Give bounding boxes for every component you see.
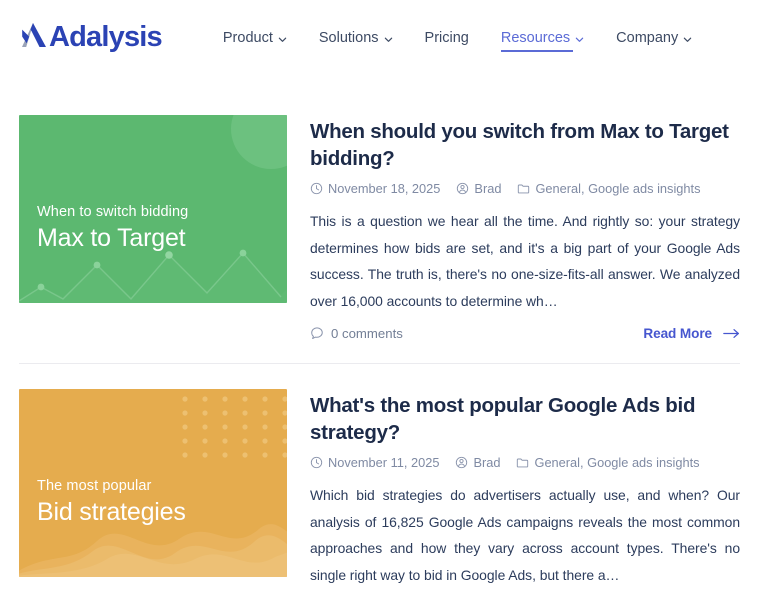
chevron-down-icon [575, 32, 584, 41]
nav-item-label: Company [616, 30, 678, 46]
thumbnail-caption: The most popular Bid strategies [37, 478, 186, 527]
post-categories-text[interactable]: General, Google ads insights [534, 455, 699, 470]
post-author: Brad [455, 455, 500, 470]
main-navigation: Product Solutions Pricing Resources Comp… [207, 24, 708, 52]
read-more-label: Read More [643, 326, 712, 341]
nav-item-label: Solutions [319, 30, 379, 46]
nav-item-label: Pricing [425, 30, 469, 46]
nav-item-resources[interactable]: Resources [485, 24, 600, 52]
chevron-down-icon [278, 32, 287, 41]
blog-post-list: When to switch bidding Max to Target Whe… [0, 75, 768, 595]
post-date: November 11, 2025 [310, 455, 439, 470]
post-author: Brad [456, 181, 501, 196]
thumbnail-caption: When to switch bidding Max to Target [37, 204, 188, 253]
blog-post-item: The most popular Bid strategies What's t… [19, 364, 740, 595]
thumbnail-headline: Bid strategies [37, 498, 186, 527]
thumbnail-kicker: When to switch bidding [37, 204, 188, 221]
post-thumbnail-image[interactable]: The most popular Bid strategies [19, 389, 287, 577]
post-title-link[interactable]: When should you switch from Max to Targe… [310, 118, 740, 172]
chevron-down-icon [384, 32, 393, 41]
nav-item-label: Resources [501, 30, 570, 46]
post-title-link[interactable]: What's the most popular Google Ads bid s… [310, 392, 740, 446]
post-meta: November 11, 2025 Brad General, Google a… [310, 455, 740, 470]
post-categories: General, Google ads insights [517, 181, 700, 196]
post-author-name[interactable]: Brad [473, 455, 500, 470]
chevron-down-icon [683, 32, 692, 41]
folder-icon [516, 456, 529, 469]
post-excerpt: Which bid strategies do advertisers actu… [310, 482, 740, 589]
nav-item-solutions[interactable]: Solutions [303, 24, 409, 52]
post-categories-text[interactable]: General, Google ads insights [535, 181, 700, 196]
post-thumbnail-image[interactable]: When to switch bidding Max to Target [19, 115, 287, 303]
arrow-right-icon [723, 328, 740, 339]
post-excerpt: This is a question we hear all the time.… [310, 208, 740, 315]
post-date-text: November 18, 2025 [328, 181, 440, 196]
clock-icon [310, 182, 323, 195]
clock-icon [310, 456, 323, 469]
post-footer: 0 comments Read More [310, 324, 740, 341]
post-comments-count: 0 comments [331, 326, 403, 341]
read-more-link[interactable]: Read More [643, 326, 740, 341]
post-categories: General, Google ads insights [516, 455, 699, 470]
post-date: November 18, 2025 [310, 181, 440, 196]
nav-item-pricing[interactable]: Pricing [409, 24, 485, 52]
site-header: Adalysis Product Solutions Pricing Resou… [0, 0, 768, 75]
nav-item-label: Product [223, 30, 273, 46]
nav-item-product[interactable]: Product [207, 24, 303, 52]
nav-item-company[interactable]: Company [600, 24, 708, 52]
adalysis-logo-mark-icon [19, 20, 50, 55]
post-date-text: November 11, 2025 [328, 455, 439, 470]
site-logo[interactable]: Adalysis [19, 20, 162, 55]
thumbnail-kicker: The most popular [37, 478, 186, 495]
comment-bubble-icon [310, 326, 324, 340]
post-content: What's the most popular Google Ads bid s… [310, 389, 740, 595]
folder-icon [517, 182, 530, 195]
thumbnail-headline: Max to Target [37, 224, 188, 253]
post-author-name[interactable]: Brad [474, 181, 501, 196]
logo-wordmark: Adalysis [49, 23, 162, 52]
user-circle-icon [456, 182, 469, 195]
post-content: When should you switch from Max to Targe… [310, 115, 740, 341]
post-comments-link[interactable]: 0 comments [310, 326, 403, 341]
blog-post-item: When to switch bidding Max to Target Whe… [19, 75, 740, 364]
post-meta: November 18, 2025 Brad General, Google a… [310, 181, 740, 196]
user-circle-icon [455, 456, 468, 469]
